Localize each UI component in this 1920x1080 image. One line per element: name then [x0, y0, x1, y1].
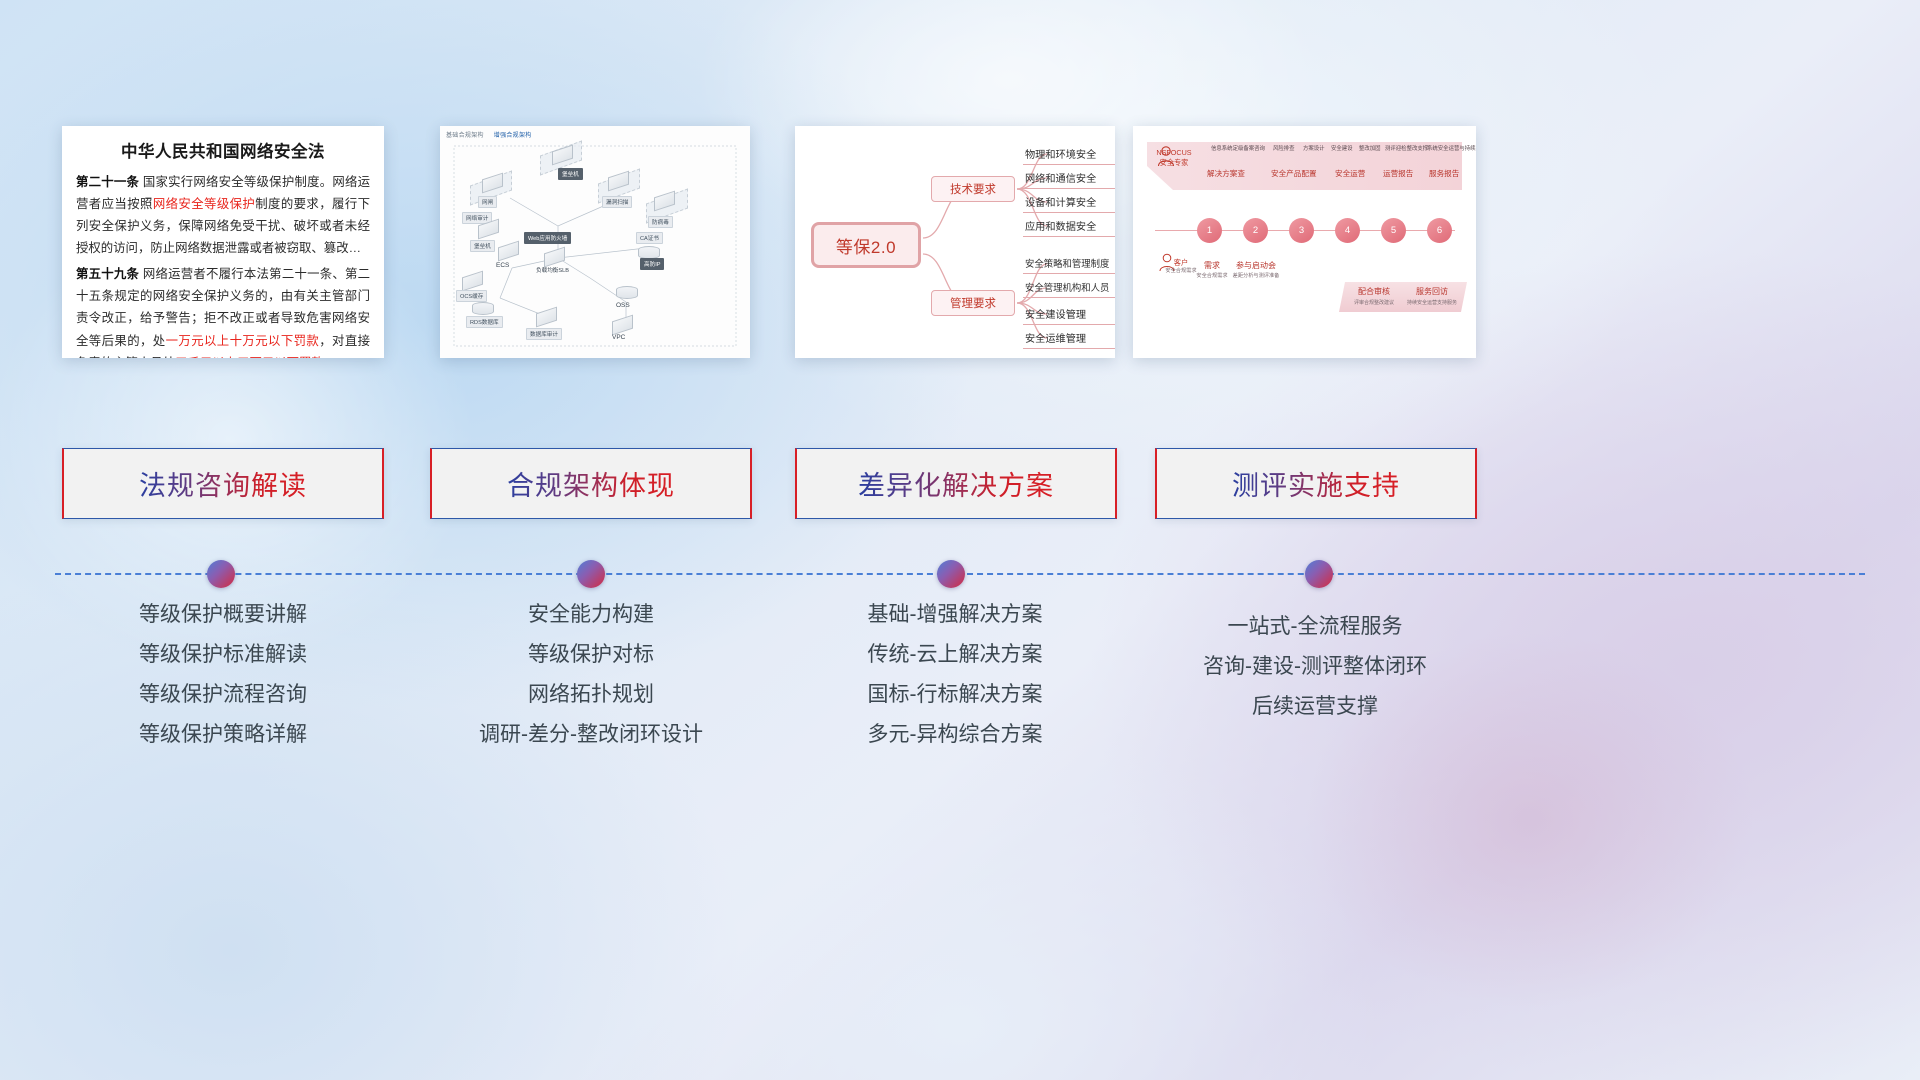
card-compliance-architecture[interactable]: 基础合规架构 增强合规架构 — [440, 126, 750, 358]
list-item: 多元-异构综合方案 — [790, 724, 1120, 745]
timeline-node-3[interactable] — [937, 560, 965, 588]
section-heading-1-label: 法规咨询解读 — [139, 464, 307, 503]
section-heading-3-label: 差异化解决方案 — [858, 464, 1054, 503]
roadmap-expert-label: NSFOCUS 安全专家 — [1151, 148, 1197, 167]
roadmap-service: 解决方案查 — [1207, 168, 1245, 179]
section-items-1: 等级保护概要讲解 等级保护标准解读 等级保护流程咨询 等级保护策略详解 — [62, 604, 384, 764]
roadmap-step-dot: 4 — [1335, 218, 1360, 243]
mindmap-branch-technical: 技术要求 — [931, 176, 1015, 202]
list-item: 等级保护概要讲解 — [62, 604, 384, 625]
mindmap-leaf: 安全策略和管理制度 — [1023, 254, 1115, 274]
timeline — [0, 560, 1920, 588]
mindmap-root: 等保2.0 — [811, 222, 921, 268]
list-item: 咨询-建设-测评整体闭环 — [1150, 656, 1480, 677]
list-item: 基础-增强解决方案 — [790, 604, 1120, 625]
section-headings: 法规咨询解读 合规架构体现 差异化解决方案 测评实施支持 — [0, 448, 1920, 522]
roadmap-service: 安全运营 — [1335, 168, 1365, 179]
section-heading-4[interactable]: 测评实施支持 — [1155, 448, 1477, 519]
roadmap-step-title: 参与启动会 — [1236, 261, 1276, 270]
card-cybersecurity-law[interactable]: 中华人民共和国网络安全法 第二十一条 国家实行网络安全等级保护制度。网络运营者应… — [62, 126, 384, 358]
section-items-3: 基础-增强解决方案 传统-云上解决方案 国标-行标解决方案 多元-异构综合方案 — [790, 604, 1120, 764]
roadmap-step-dot: 2 — [1243, 218, 1268, 243]
law-title: 中华人民共和国网络安全法 — [76, 138, 370, 162]
article-59-highlight-b: 五千元以上五万元以下罚款。 — [175, 356, 336, 358]
article-59-label: 第五十九条 — [76, 267, 139, 281]
card-roadmap[interactable]: NSFOCUS 安全专家 信息系统定级备案咨询 风险排查 方案设计 安全建设 整… — [1133, 126, 1476, 358]
list-item: 国标-行标解决方案 — [790, 684, 1120, 705]
roadmap-tag-title: 配合审核 — [1358, 287, 1390, 296]
article-59-highlight-a: 一万元以上十万元以下罚款 — [166, 334, 320, 348]
roadmap-top-label: 整改加固 — [1359, 144, 1381, 152]
roadmap-step-dot: 5 — [1381, 218, 1406, 243]
expert-line-1: NSFOCUS — [1151, 148, 1197, 158]
roadmap-step-label: 参与启动会 差距分析与测评准备 — [1223, 260, 1289, 280]
law-body: 中华人民共和国网络安全法 第二十一条 国家实行网络安全等级保护制度。网络运营者应… — [62, 126, 384, 358]
article-21-label: 第二十一条 — [76, 175, 139, 189]
mindmap-leaf: 应用和数据安全 — [1023, 216, 1115, 237]
roadmap-top-label: 系统安全运营与持续改进 — [1427, 144, 1476, 152]
list-item: 后续运营支撑 — [1150, 696, 1480, 717]
section-heading-2[interactable]: 合规架构体现 — [430, 448, 752, 519]
list-item: 等级保护对标 — [430, 644, 752, 665]
timeline-node-1[interactable] — [207, 560, 235, 588]
timeline-node-4[interactable] — [1305, 560, 1333, 588]
roadmap-top-label: 方案设计 — [1303, 144, 1325, 152]
section-heading-4-label: 测评实施支持 — [1232, 464, 1400, 503]
article-21-highlight: 网络安全等级保护 — [153, 197, 255, 211]
section-heading-3[interactable]: 差异化解决方案 — [795, 448, 1117, 519]
roadmap-service: 服务报告 — [1429, 168, 1459, 179]
list-item: 传统-云上解决方案 — [790, 644, 1120, 665]
mindmap-leaf: 安全建设管理 — [1023, 304, 1115, 325]
law-article-59: 第五十九条 网络运营者不履行本法第二十一条、第二十五条规定的网络安全保护义务的，… — [76, 263, 370, 358]
roadmap-tag-title: 服务回访 — [1416, 287, 1448, 296]
roadmap-tag: 服务回访 持续安全运营支持服务 — [1397, 282, 1467, 312]
list-item: 等级保护流程咨询 — [62, 684, 384, 705]
cards-row: 中华人民共和国网络安全法 第二十一条 国家实行网络安全等级保护制度。网络运营者应… — [0, 126, 1920, 361]
section-items-4: 一站式-全流程服务 咨询-建设-测评整体闭环 后续运营支撑 — [1150, 616, 1480, 736]
list-item: 等级保护标准解读 — [62, 644, 384, 665]
list-item: 安全能力构建 — [430, 604, 752, 625]
card-mindmap[interactable]: 等保2.0 技术要求 管理要求 物理和环境安全 网络和通信安全 设备和计算安全 … — [795, 126, 1115, 358]
law-article-21: 第二十一条 国家实行网络安全等级保护制度。网络运营者应当按照网络安全等级保护制度… — [76, 171, 370, 259]
mindmap-diagram: 等保2.0 技术要求 管理要求 物理和环境安全 网络和通信安全 设备和计算安全 … — [795, 126, 1115, 358]
roadmap-step-dot: 3 — [1289, 218, 1314, 243]
mindmap-leaf: 安全运维管理 — [1023, 328, 1115, 349]
section-heading-1[interactable]: 法规咨询解读 — [62, 448, 384, 519]
roadmap-diagram: NSFOCUS 安全专家 信息系统定级备案咨询 风险排查 方案设计 安全建设 整… — [1133, 126, 1476, 358]
section-heading-2-label: 合规架构体现 — [507, 464, 675, 503]
roadmap-top-label: 测评迎检整改支撑 — [1385, 144, 1428, 152]
timeline-node-2[interactable] — [577, 560, 605, 588]
mindmap-leaf: 设备和计算安全 — [1023, 192, 1115, 213]
roadmap-top-label: 安全建设 — [1331, 144, 1353, 152]
section-items-2: 安全能力构建 等级保护对标 网络拓扑规划 调研-差分-整改闭环设计 — [430, 604, 752, 764]
roadmap-tag-sub: 持续安全运营支持服务 — [1397, 299, 1467, 306]
list-item: 一站式-全流程服务 — [1150, 616, 1480, 637]
mindmap-branch-management: 管理要求 — [931, 290, 1015, 316]
mindmap-leaf: 物理和环境安全 — [1023, 144, 1115, 165]
roadmap-service: 安全产品配置 — [1271, 168, 1317, 179]
list-item: 调研-差分-整改闭环设计 — [430, 724, 752, 745]
section-item-lists: 等级保护概要讲解 等级保护标准解读 等级保护流程咨询 等级保护策略详解 安全能力… — [0, 604, 1920, 794]
roadmap-top-label: 信息系统定级备案咨询 — [1211, 144, 1265, 152]
list-item: 网络拓扑规划 — [430, 684, 752, 705]
roadmap-step-title: 需求 — [1204, 261, 1220, 270]
roadmap-service: 运营报告 — [1383, 168, 1413, 179]
mindmap-leaf: 网络和通信安全 — [1023, 168, 1115, 189]
roadmap-top-label: 风险排查 — [1273, 144, 1295, 152]
expert-line-2: 安全专家 — [1151, 158, 1197, 168]
roadmap-step-dot: 1 — [1197, 218, 1222, 243]
architecture-diagram: 基础合规架构 增强合规架构 — [440, 126, 750, 358]
roadmap-step-dot: 6 — [1427, 218, 1452, 243]
list-item: 等级保护策略详解 — [62, 724, 384, 745]
mindmap-leaf: 安全管理机构和人员 — [1023, 278, 1115, 298]
roadmap-step-sub: 差距分析与测评准备 — [1223, 273, 1289, 280]
